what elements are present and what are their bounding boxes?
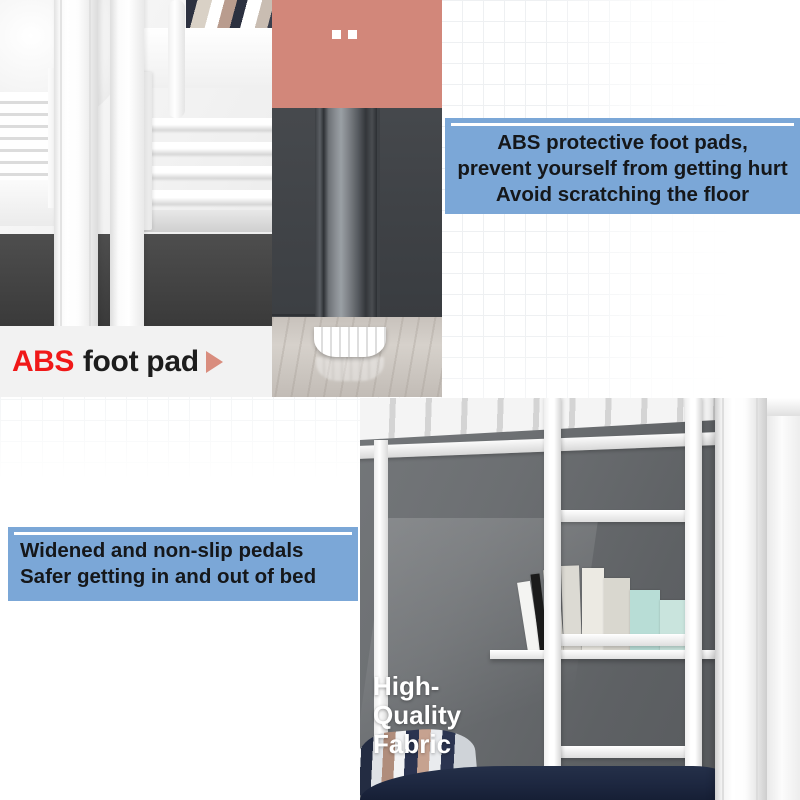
photo-white-bunk-bed-frame (0, 0, 272, 326)
ladder-rail-right (685, 398, 702, 800)
book-shelf (490, 650, 715, 659)
ladder-rung-top (550, 510, 690, 522)
bed-post-front (54, 0, 98, 326)
abs-label-highlight: ABS (12, 345, 74, 379)
bed-vertical-pole (168, 0, 185, 118)
fabric-line-1: High- (373, 672, 461, 701)
banner2-line-1: Widened and non-slip pedals (20, 538, 358, 564)
upper-mattress (140, 28, 272, 88)
banner2-line-2: Safer getting in and out of bed (20, 564, 358, 590)
abs-foot-pad-label: ABS foot pad (0, 326, 272, 397)
banner-abs-foot-pads: ABS protective foot pads, prevent yourse… (445, 118, 800, 214)
banner-line-2: prevent yourself from getting hurt (445, 156, 800, 182)
abs-label-text: foot pad (83, 345, 199, 379)
banner-line-1: ABS protective foot pads, (445, 130, 800, 156)
foreground-bed-post (715, 398, 767, 800)
left-guard-slats (0, 92, 54, 188)
bed-post-secondary (110, 0, 144, 326)
banner-line-3: Avoid scratching the floor (445, 182, 800, 208)
ladder-rail-left (544, 398, 561, 800)
under-bunk-shadow (140, 210, 272, 232)
ladder-rung-middle (550, 634, 690, 646)
guard-rail-4 (140, 190, 272, 204)
play-triangle-icon (206, 351, 223, 373)
guard-rail-3 (140, 166, 272, 178)
guard-rail-1 (140, 118, 272, 130)
banner-non-slip-pedals: Widened and non-slip pedals Safer gettin… (8, 527, 358, 601)
banner-bottom-rule (14, 532, 352, 535)
watermark-squares-icon (332, 30, 357, 39)
far-right-post-cap (767, 398, 800, 416)
abs-foot-pad (314, 327, 386, 357)
high-quality-fabric-caption: High- Quality Fabric (373, 672, 461, 759)
far-right-post (767, 398, 800, 800)
ladder-rung-bottom (550, 746, 690, 758)
salmon-color-block (272, 0, 442, 108)
fabric-line-2: Quality (373, 701, 461, 730)
guard-rail-2 (140, 142, 272, 154)
fabric-line-3: Fabric (373, 730, 461, 759)
product-feature-collage: ABS foot pad ABS protective foot pads, p… (0, 0, 800, 800)
foot-pad-reflection (316, 357, 384, 381)
banner-top-rule (451, 123, 794, 126)
